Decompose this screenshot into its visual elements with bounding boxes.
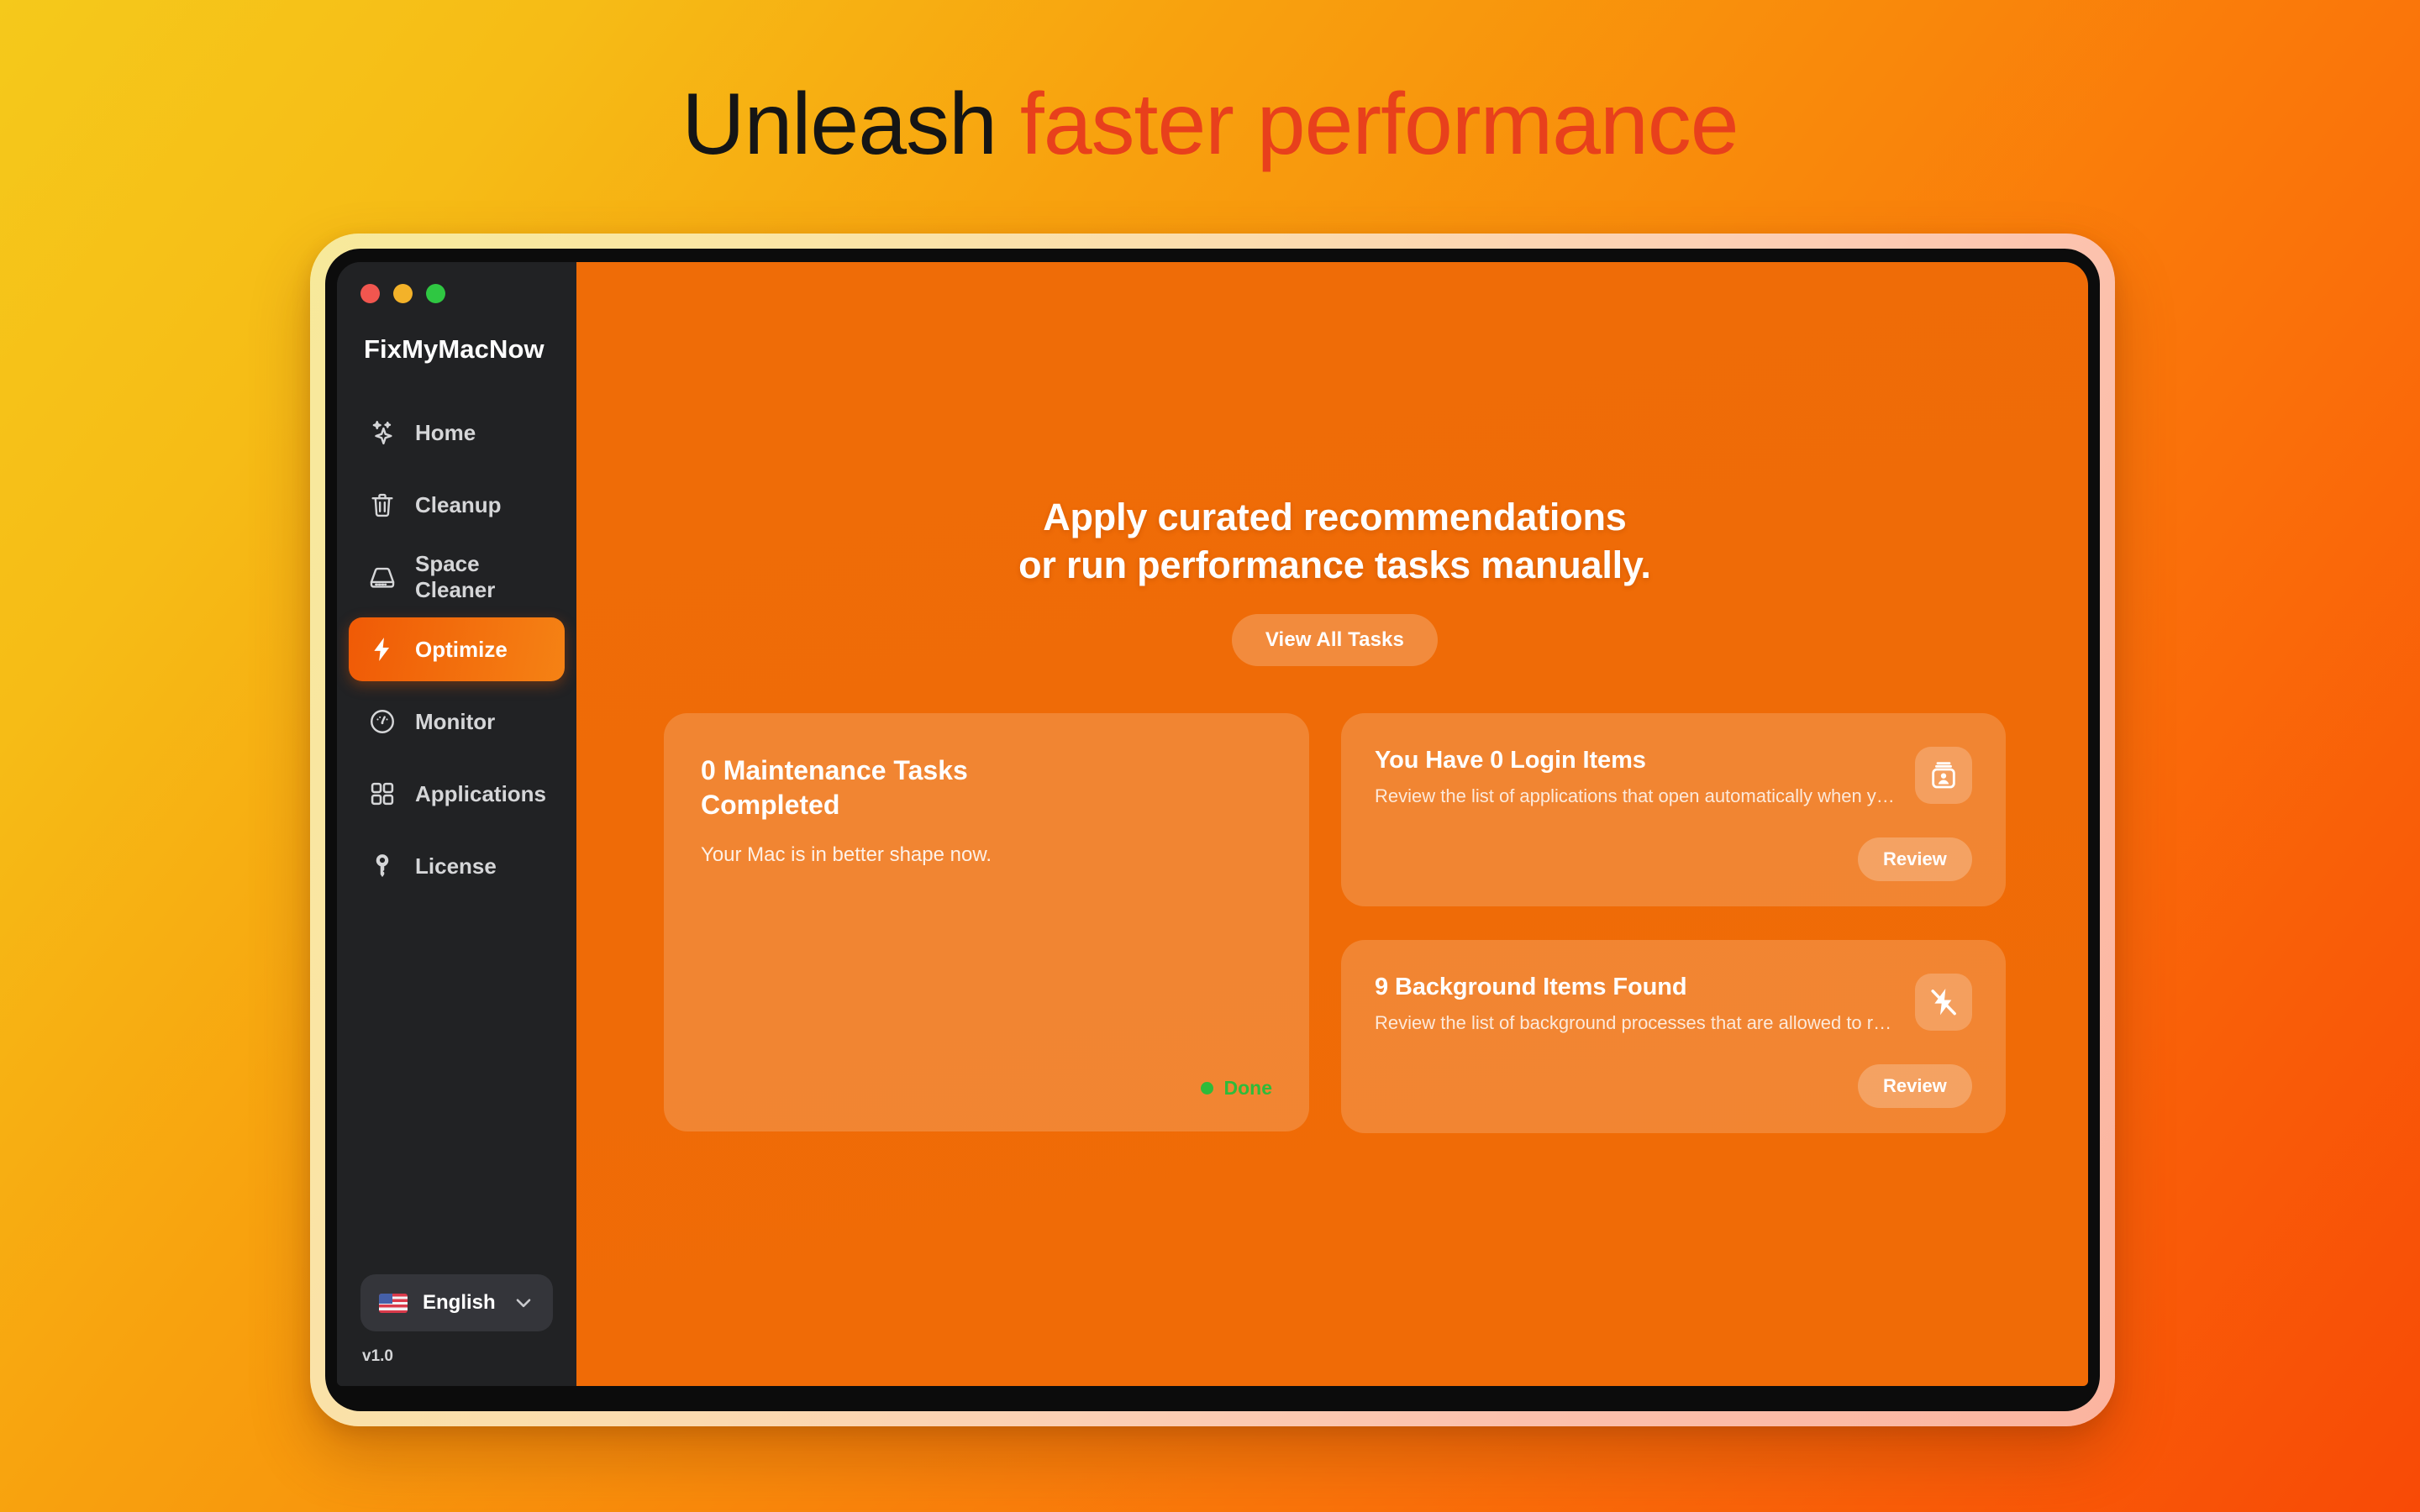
maintenance-card-subtitle: Your Mac is in better shape now. bbox=[701, 843, 1272, 867]
bolt-slash-icon bbox=[1915, 974, 1972, 1031]
maintenance-card-title: 0 Maintenance Tasks Completed bbox=[701, 753, 1054, 822]
sidebar-item-space-cleaner[interactable]: Space Cleaner bbox=[349, 545, 565, 609]
chevron-down-icon bbox=[513, 1292, 534, 1314]
login-items-review-button[interactable]: Review bbox=[1858, 837, 1972, 881]
sidebar-item-applications[interactable]: Applications bbox=[349, 762, 565, 826]
device-frame: FixMyMacNow Home bbox=[310, 234, 2115, 1426]
background-items-review-button[interactable]: Review bbox=[1858, 1064, 1972, 1108]
main-heading: Apply curated recommendations or run per… bbox=[1018, 494, 1651, 589]
background-items-card-text: 9 Background Items Found Review the list… bbox=[1375, 974, 1895, 1034]
zoom-button[interactable] bbox=[426, 284, 445, 303]
headline-primary: Unleash bbox=[681, 76, 1019, 173]
main-content: Apply curated recommendations or run per… bbox=[576, 262, 2088, 1386]
cards-grid: 0 Maintenance Tasks Completed Your Mac i… bbox=[664, 713, 2006, 1133]
app-title: FixMyMacNow bbox=[337, 303, 576, 365]
background-items-card-title: 9 Background Items Found bbox=[1375, 974, 1895, 1001]
close-button[interactable] bbox=[360, 284, 380, 303]
device-bezel: FixMyMacNow Home bbox=[325, 249, 2100, 1411]
trash-icon bbox=[367, 490, 397, 520]
sidebar-item-home[interactable]: Home bbox=[349, 401, 565, 465]
bolt-icon bbox=[367, 634, 397, 664]
headline-accent: faster performance bbox=[1020, 76, 1739, 173]
sidebar-item-license[interactable]: License bbox=[349, 834, 565, 898]
status-label: Done bbox=[1224, 1077, 1273, 1100]
cards-column-left: 0 Maintenance Tasks Completed Your Mac i… bbox=[664, 713, 1309, 1131]
main-heading-line-1: Apply curated recommendations bbox=[1018, 494, 1651, 542]
sidebar-item-optimize[interactable]: Optimize bbox=[349, 617, 565, 681]
login-items-card-header: You Have 0 Login Items Review the list o… bbox=[1375, 747, 1972, 807]
grid-icon bbox=[367, 779, 397, 809]
login-items-card: You Have 0 Login Items Review the list o… bbox=[1341, 713, 2006, 906]
sidebar-item-label: Home bbox=[415, 420, 476, 446]
sidebar-footer: English v1.0 bbox=[337, 1274, 576, 1386]
login-items-card-title: You Have 0 Login Items bbox=[1375, 747, 1895, 774]
key-icon bbox=[367, 851, 397, 881]
sparkles-icon bbox=[367, 417, 397, 448]
sidebar-item-cleanup[interactable]: Cleanup bbox=[349, 473, 565, 537]
language-select[interactable]: English bbox=[360, 1274, 553, 1331]
background-items-card-header: 9 Background Items Found Review the list… bbox=[1375, 974, 1972, 1034]
window-traffic-lights bbox=[337, 262, 576, 303]
app-version: v1.0 bbox=[360, 1347, 553, 1366]
sidebar-item-label: Optimize bbox=[415, 637, 508, 663]
drive-icon bbox=[367, 562, 397, 592]
person-card-icon bbox=[1915, 747, 1972, 804]
background-items-card-description: Review the list of background processes … bbox=[1375, 1012, 1895, 1034]
status-dot-icon bbox=[1201, 1082, 1213, 1095]
language-label: English bbox=[423, 1291, 497, 1315]
sidebar-nav: Home Cleanup bbox=[337, 401, 576, 906]
sidebar-item-label: Cleanup bbox=[415, 492, 502, 518]
sidebar-item-label: License bbox=[415, 853, 497, 879]
sidebar: FixMyMacNow Home bbox=[337, 262, 576, 1386]
page-headline: Unleash faster performance bbox=[0, 77, 2420, 171]
minimize-button[interactable] bbox=[393, 284, 413, 303]
sidebar-item-label: Applications bbox=[415, 781, 546, 807]
login-items-card-description: Review the list of applications that ope… bbox=[1375, 785, 1895, 807]
us-flag-icon bbox=[379, 1294, 408, 1313]
login-items-card-text: You Have 0 Login Items Review the list o… bbox=[1375, 747, 1895, 807]
sidebar-item-label: Space Cleaner bbox=[415, 551, 546, 603]
maintenance-summary-card: 0 Maintenance Tasks Completed Your Mac i… bbox=[664, 713, 1309, 1131]
sidebar-item-label: Monitor bbox=[415, 709, 495, 735]
sidebar-item-monitor[interactable]: Monitor bbox=[349, 690, 565, 753]
status-badge: Done bbox=[1201, 1077, 1273, 1100]
gauge-icon bbox=[367, 706, 397, 737]
background-items-card: 9 Background Items Found Review the list… bbox=[1341, 940, 2006, 1133]
app-window: FixMyMacNow Home bbox=[337, 262, 2088, 1386]
cards-column-right: You Have 0 Login Items Review the list o… bbox=[1341, 713, 2006, 1133]
main-heading-line-2: or run performance tasks manually. bbox=[1018, 542, 1651, 590]
view-all-tasks-button[interactable]: View All Tasks bbox=[1232, 614, 1438, 666]
